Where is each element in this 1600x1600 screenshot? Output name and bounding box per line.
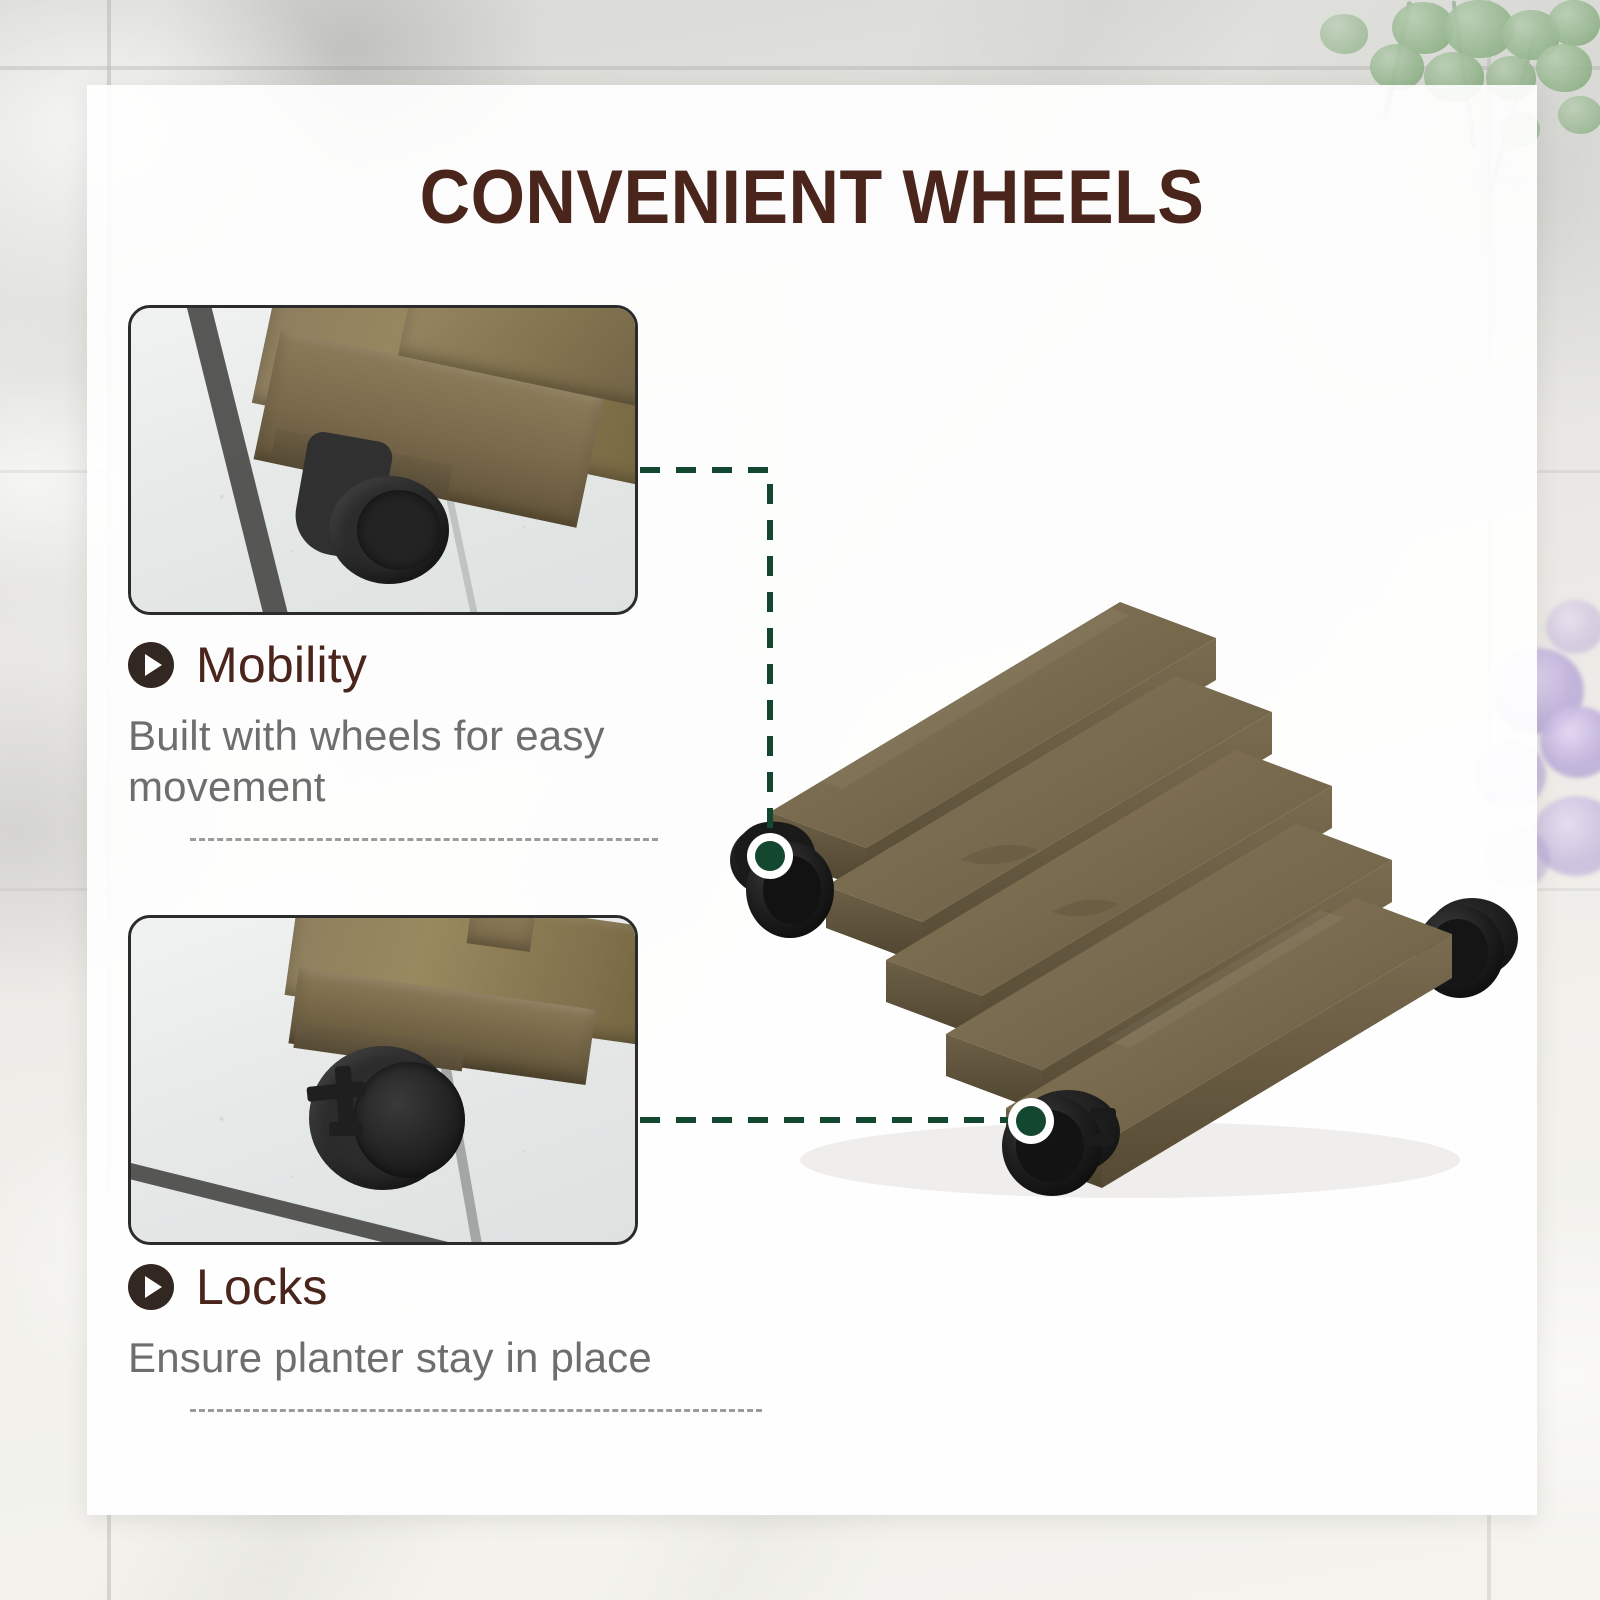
feature-mobility: Mobility Built with wheels for easy move… [128, 640, 748, 841]
feature-locks-divider [190, 1409, 762, 1412]
play-triangle-icon [128, 1264, 174, 1310]
feature-locks-body: Ensure planter stay in place [128, 1332, 828, 1383]
feature-locks: Locks Ensure planter stay in place [128, 1262, 828, 1412]
photo-mobility [131, 308, 635, 612]
plant-caddy-illustration [660, 560, 1560, 1240]
feature-locks-heading: Locks [128, 1262, 828, 1312]
caster-hub [353, 1062, 465, 1178]
feature-mobility-title: Mobility [196, 640, 367, 690]
inset-photo-locks [128, 915, 638, 1245]
feature-mobility-heading: Mobility [128, 640, 748, 690]
inset-photo-mobility [128, 305, 638, 615]
caster-hub [357, 490, 441, 570]
play-triangle-icon [128, 642, 174, 688]
page-title: CONVENIENT WHEELS [145, 160, 1479, 236]
photo-locks [131, 918, 635, 1242]
feature-mobility-divider [190, 838, 658, 841]
brake-lever-tab [329, 1122, 363, 1136]
feature-locks-title: Locks [196, 1262, 328, 1312]
feature-mobility-body: Built with wheels for easy movement [128, 710, 748, 812]
product-image-plant-caddy [660, 560, 1560, 1240]
